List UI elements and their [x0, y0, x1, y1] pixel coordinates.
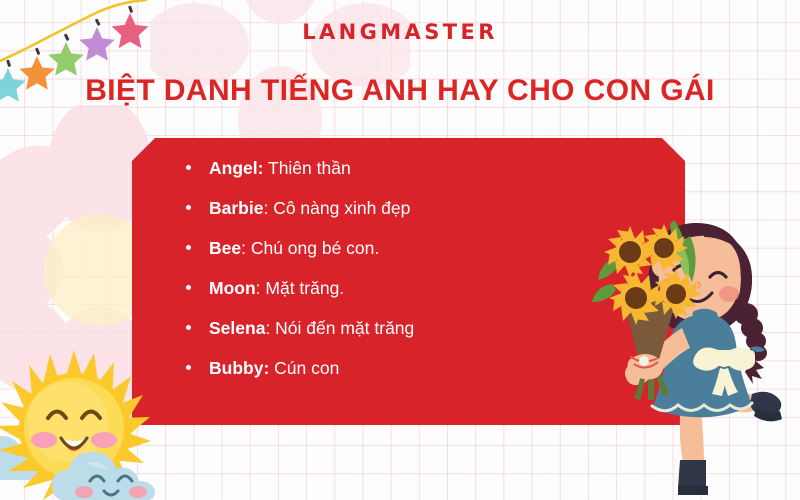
brand-logo: LANGMASTER: [0, 20, 800, 44]
nickname-term: Moon: [209, 278, 256, 299]
nickname-desc: Cún con: [269, 358, 339, 379]
nickname-desc: : Mặt trăng.: [256, 278, 345, 299]
nickname-term: Angel:: [209, 158, 263, 179]
list-item: Barbie : Cô nàng xinh đẹp: [186, 198, 656, 238]
list-item: Bubby: Cún con: [186, 358, 656, 398]
page-title: BIỆT DANH TIẾNG ANH HAY CHO CON GÁI: [0, 74, 800, 108]
nickname-desc: : Chú ong bé con.: [241, 238, 379, 259]
bullet-icon: [186, 285, 191, 290]
list-item: Angel: Thiên thần: [186, 158, 656, 198]
nickname-term: Barbie: [209, 198, 263, 219]
bullet-icon: [186, 245, 191, 250]
nickname-list: Angel: Thiên thần Barbie : Cô nàng xinh …: [186, 158, 656, 398]
nickname-term: Bee: [209, 238, 241, 259]
bullet-icon: [186, 365, 191, 370]
list-item: Moon : Mặt trăng.: [186, 278, 656, 318]
bullet-icon: [186, 325, 191, 330]
nickname-desc: : Cô nàng xinh đẹp: [263, 198, 410, 219]
nickname-term: Bubby:: [209, 358, 269, 379]
bullet-icon: [186, 165, 191, 170]
list-item: Selena : Nói đến mặt trăng: [186, 318, 656, 358]
bullet-icon: [186, 205, 191, 210]
nickname-term: Selena: [209, 318, 265, 339]
nickname-desc: : Nói đến mặt trăng: [265, 318, 414, 339]
list-item: Bee : Chú ong bé con.: [186, 238, 656, 278]
poster-canvas: LANGMASTER BIỆT DANH TIẾNG ANH HAY CHO C…: [0, 0, 800, 500]
nickname-desc: Thiên thần: [263, 158, 350, 179]
